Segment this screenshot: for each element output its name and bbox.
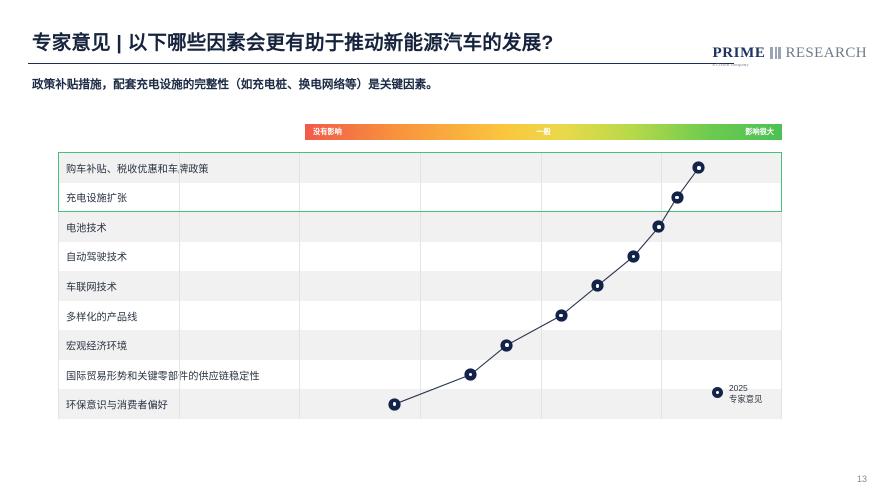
factor-label: 多样化的产品线 xyxy=(66,308,137,323)
page-number: 13 xyxy=(857,474,867,484)
table-row: 宏观经济环境 xyxy=(58,330,782,360)
factor-label: 购车补贴、税收优惠和车牌政策 xyxy=(66,160,209,175)
legend-series-name: 专家意见 xyxy=(729,394,763,405)
table-row: 多样化的产品线 xyxy=(58,301,782,331)
table-row: 车联网技术 xyxy=(58,271,782,301)
factor-label: 充电设施扩张 xyxy=(66,190,127,205)
table-row: 购车补贴、税收优惠和车牌政策 xyxy=(58,153,782,183)
factor-label: 国际贸易形势和关键零部件的供应链稳定性 xyxy=(66,367,260,382)
factor-label: 自动驾驶技术 xyxy=(66,249,127,264)
table-row: 自动驾驶技术 xyxy=(58,242,782,272)
prime-research-logo: PRIME a Cision company RESEARCH xyxy=(712,46,867,72)
chart-legend: 2025 专家意见 xyxy=(712,383,763,404)
table-row: 电池技术 xyxy=(58,212,782,242)
scale-label-low: 没有影响 xyxy=(313,127,342,137)
data-point-marker xyxy=(501,340,512,351)
logo-prime-text: PRIME xyxy=(712,46,765,61)
title-divider xyxy=(28,63,734,64)
scale-label-high: 影响很大 xyxy=(745,127,774,137)
legend-year: 2025 xyxy=(729,383,763,394)
table-row: 环保意识与消费者偏好 xyxy=(58,389,782,419)
data-point-marker xyxy=(389,399,400,410)
slide-canvas: 专家意见 | 以下哪些因素会更有助于推动新能源汽车的发展? PRIME a Ci… xyxy=(0,0,889,500)
factor-label: 车联网技术 xyxy=(66,278,117,293)
factor-label: 环保意识与消费者偏好 xyxy=(66,397,168,412)
data-point-marker xyxy=(628,251,639,262)
logo-tagline: a Cision company xyxy=(712,62,748,67)
impact-scale-bar: 没有影响 一般 影响很大 xyxy=(305,124,782,140)
data-point-marker xyxy=(556,310,567,321)
table-row: 国际贸易形势和关键零部件的供应链稳定性 xyxy=(58,360,782,390)
factor-label: 宏观经济环境 xyxy=(66,338,127,353)
legend-marker-icon xyxy=(712,387,723,398)
scale-label-mid: 一般 xyxy=(536,127,550,137)
factor-label: 电池技术 xyxy=(66,219,107,234)
page-title: 专家意见 | 以下哪些因素会更有助于推动新能源汽车的发展? xyxy=(32,26,554,55)
slide-subtitle: 政策补贴措施，配套充电设施的完整性（如充电桩、换电网络等）是关键因素。 xyxy=(32,76,438,92)
data-point-marker xyxy=(672,192,683,203)
logo-building-icon xyxy=(770,47,781,59)
logo-research-text: RESEARCH xyxy=(785,46,867,61)
